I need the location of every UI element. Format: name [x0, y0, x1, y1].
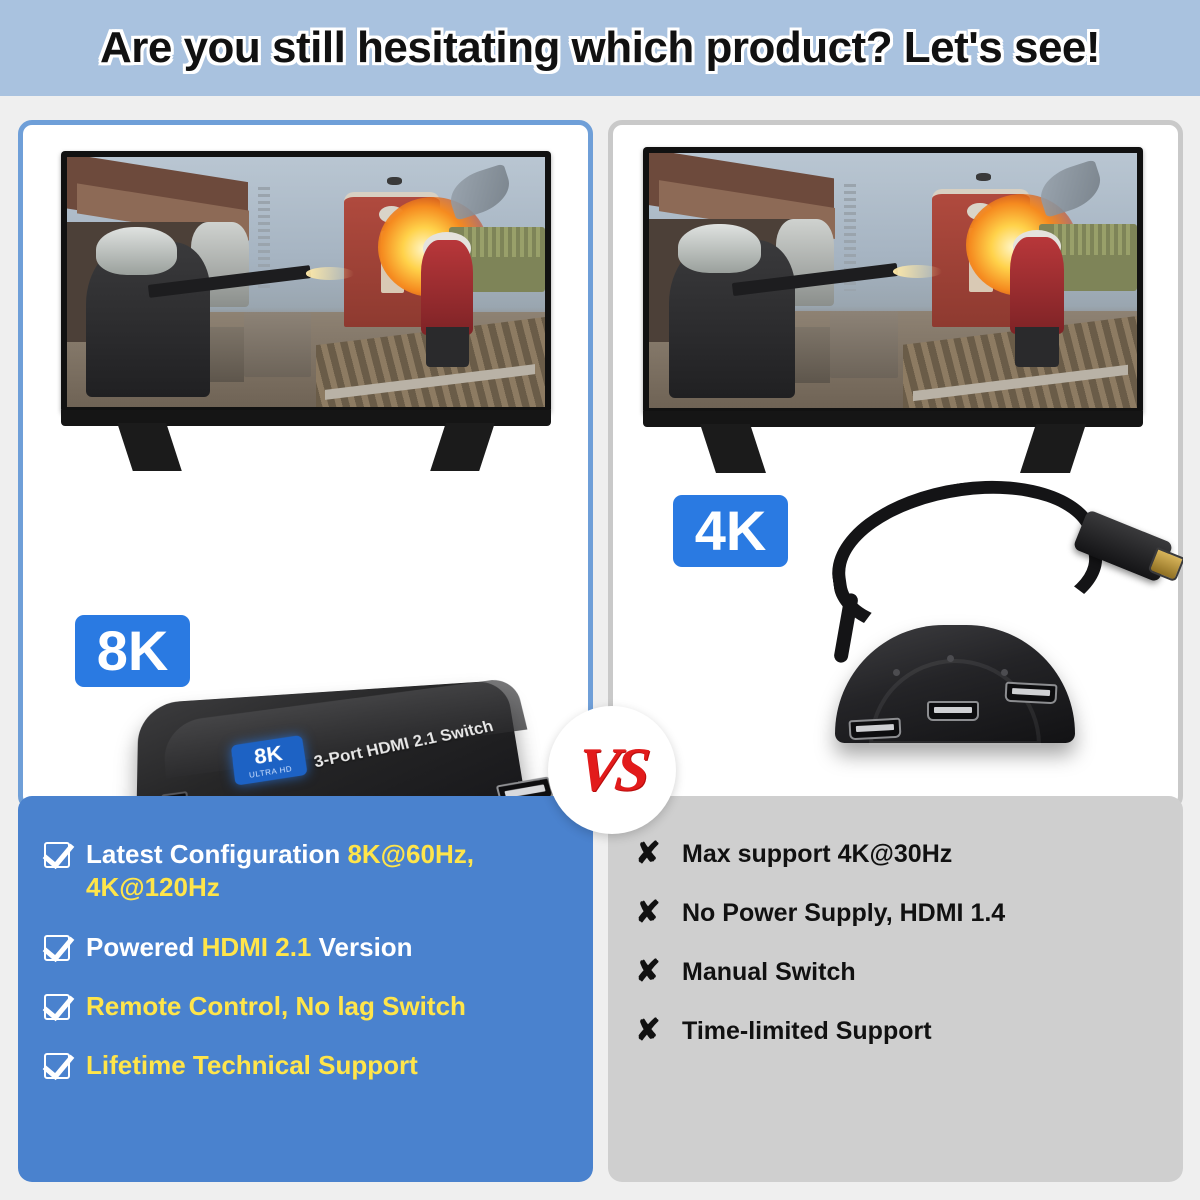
cable-loop	[822, 465, 1110, 651]
left-media-card: 8K 8K ULTRA HD 3-Port HDMI 2.1 Switch	[18, 120, 593, 810]
hub-indicator-dot-1	[893, 669, 900, 676]
vs-label: VS	[574, 735, 649, 806]
right-tv-image	[643, 147, 1143, 473]
feature-item: Remote Control, No lag Switch	[44, 990, 567, 1023]
left-product-panel: 8K 8K ULTRA HD 3-Port HDMI 2.1 Switch	[18, 120, 593, 1182]
left-feature-list: Latest Configuration 8K@60Hz, 4K@120HzPo…	[44, 838, 567, 1082]
tv-bezel	[61, 151, 551, 413]
feature-text: Lifetime Technical Support	[86, 1049, 418, 1082]
game-truck-bed	[464, 227, 540, 257]
feature-text: No Power Supply, HDMI 1.4	[682, 897, 1005, 929]
feature-item: ✘Time-limited Support	[634, 1015, 1157, 1048]
feature-text-segment: Time-limited Support	[682, 1017, 932, 1045]
tv-stand-left	[117, 423, 182, 471]
feature-text: Time-limited Support	[682, 1015, 932, 1047]
page-title: Are you still hesitating which product? …	[100, 23, 1100, 73]
right-media-card: 4K	[608, 120, 1183, 810]
feature-text: Remote Control, No lag Switch	[86, 990, 466, 1023]
left-tv-image	[61, 151, 551, 471]
cable-tail	[833, 592, 859, 663]
game-debris	[976, 173, 991, 181]
tv-screen	[67, 157, 545, 407]
feature-text-segment: HDMI 2.1	[202, 932, 319, 962]
feature-item: ✘No Power Supply, HDMI 1.4	[634, 897, 1157, 930]
game-muzzle-flash	[306, 267, 354, 280]
game-crate	[830, 311, 898, 377]
hub-indicator-dot-2	[947, 655, 954, 662]
splitter-hdmi-port-1	[849, 718, 902, 741]
feature-text: Powered HDMI 2.1 Version	[86, 931, 413, 964]
tv-stand-right	[1020, 424, 1086, 473]
tv-bezel	[643, 147, 1143, 414]
feature-text: Latest Configuration 8K@60Hz, 4K@120Hz	[86, 838, 567, 905]
right-product-panel: 4K ✘Max support 4K@30Hz✘No Power S	[608, 120, 1183, 1182]
right-feature-list: ✘Max support 4K@30Hz✘No Power Supply, HD…	[634, 838, 1157, 1048]
game-truck-bed	[1054, 224, 1132, 255]
game-soldier-helmet	[96, 227, 177, 275]
game-panda-legs	[426, 327, 469, 367]
cross-icon: ✘	[634, 836, 662, 871]
feature-text-segment: Manual Switch	[682, 958, 856, 986]
feature-text-segment: Powered	[86, 932, 202, 962]
vs-badge: VS	[548, 706, 676, 834]
left-feature-panel: Latest Configuration 8K@60Hz, 4K@120HzPo…	[18, 796, 593, 1182]
game-soldier-helmet	[678, 224, 761, 273]
resolution-badge-4k: 4K	[673, 495, 788, 567]
feature-text-segment: Lifetime Technical Support	[86, 1050, 418, 1080]
splitter-hub-body	[835, 625, 1075, 743]
feature-item: ✘Manual Switch	[634, 956, 1157, 989]
header-banner: Are you still hesitating which product? …	[0, 0, 1200, 96]
feature-text-segment: Latest Configuration	[86, 839, 347, 869]
check-icon	[44, 842, 70, 868]
hdmi-splitter-cable-image	[805, 475, 1175, 775]
feature-text-segment: Version	[319, 932, 413, 962]
game-panda-legs	[1015, 327, 1059, 368]
cross-icon: ✘	[634, 1013, 662, 1048]
feature-text-segment: No Power Supply, HDMI 1.4	[682, 899, 1005, 927]
feature-text: Manual Switch	[682, 956, 856, 988]
tv-stand-right	[431, 423, 496, 471]
game-muzzle-flash	[893, 265, 942, 278]
feature-text: Max support 4K@30Hz	[682, 838, 952, 870]
right-feature-panel: ✘Max support 4K@30Hz✘No Power Supply, HD…	[608, 796, 1183, 1182]
cross-icon: ✘	[634, 895, 662, 930]
feature-text-segment: Max support 4K@30Hz	[682, 840, 952, 868]
tv-stand-left	[700, 424, 766, 473]
device-logo-8k-text: 8K	[253, 742, 284, 767]
feature-text-segment: Remote Control, No lag Switch	[86, 991, 466, 1021]
game-crate	[244, 312, 311, 377]
check-icon	[44, 1053, 70, 1079]
check-icon	[44, 994, 70, 1020]
infographic-page: Are you still hesitating which product? …	[0, 0, 1200, 1200]
game-panda-character	[421, 240, 474, 335]
cross-icon: ✘	[634, 954, 662, 989]
game-panda-character	[1010, 237, 1064, 334]
check-icon	[44, 935, 70, 961]
game-debris	[387, 177, 401, 185]
feature-item: Powered HDMI 2.1 Version	[44, 931, 567, 964]
splitter-hdmi-port-3	[1005, 682, 1058, 705]
feature-item: ✘Max support 4K@30Hz	[634, 838, 1157, 871]
tv-screen	[649, 153, 1137, 408]
splitter-hdmi-port-2	[927, 701, 979, 721]
hub-indicator-dot-3	[1001, 669, 1008, 676]
feature-item: Lifetime Technical Support	[44, 1049, 567, 1082]
feature-item: Latest Configuration 8K@60Hz, 4K@120Hz	[44, 838, 567, 905]
